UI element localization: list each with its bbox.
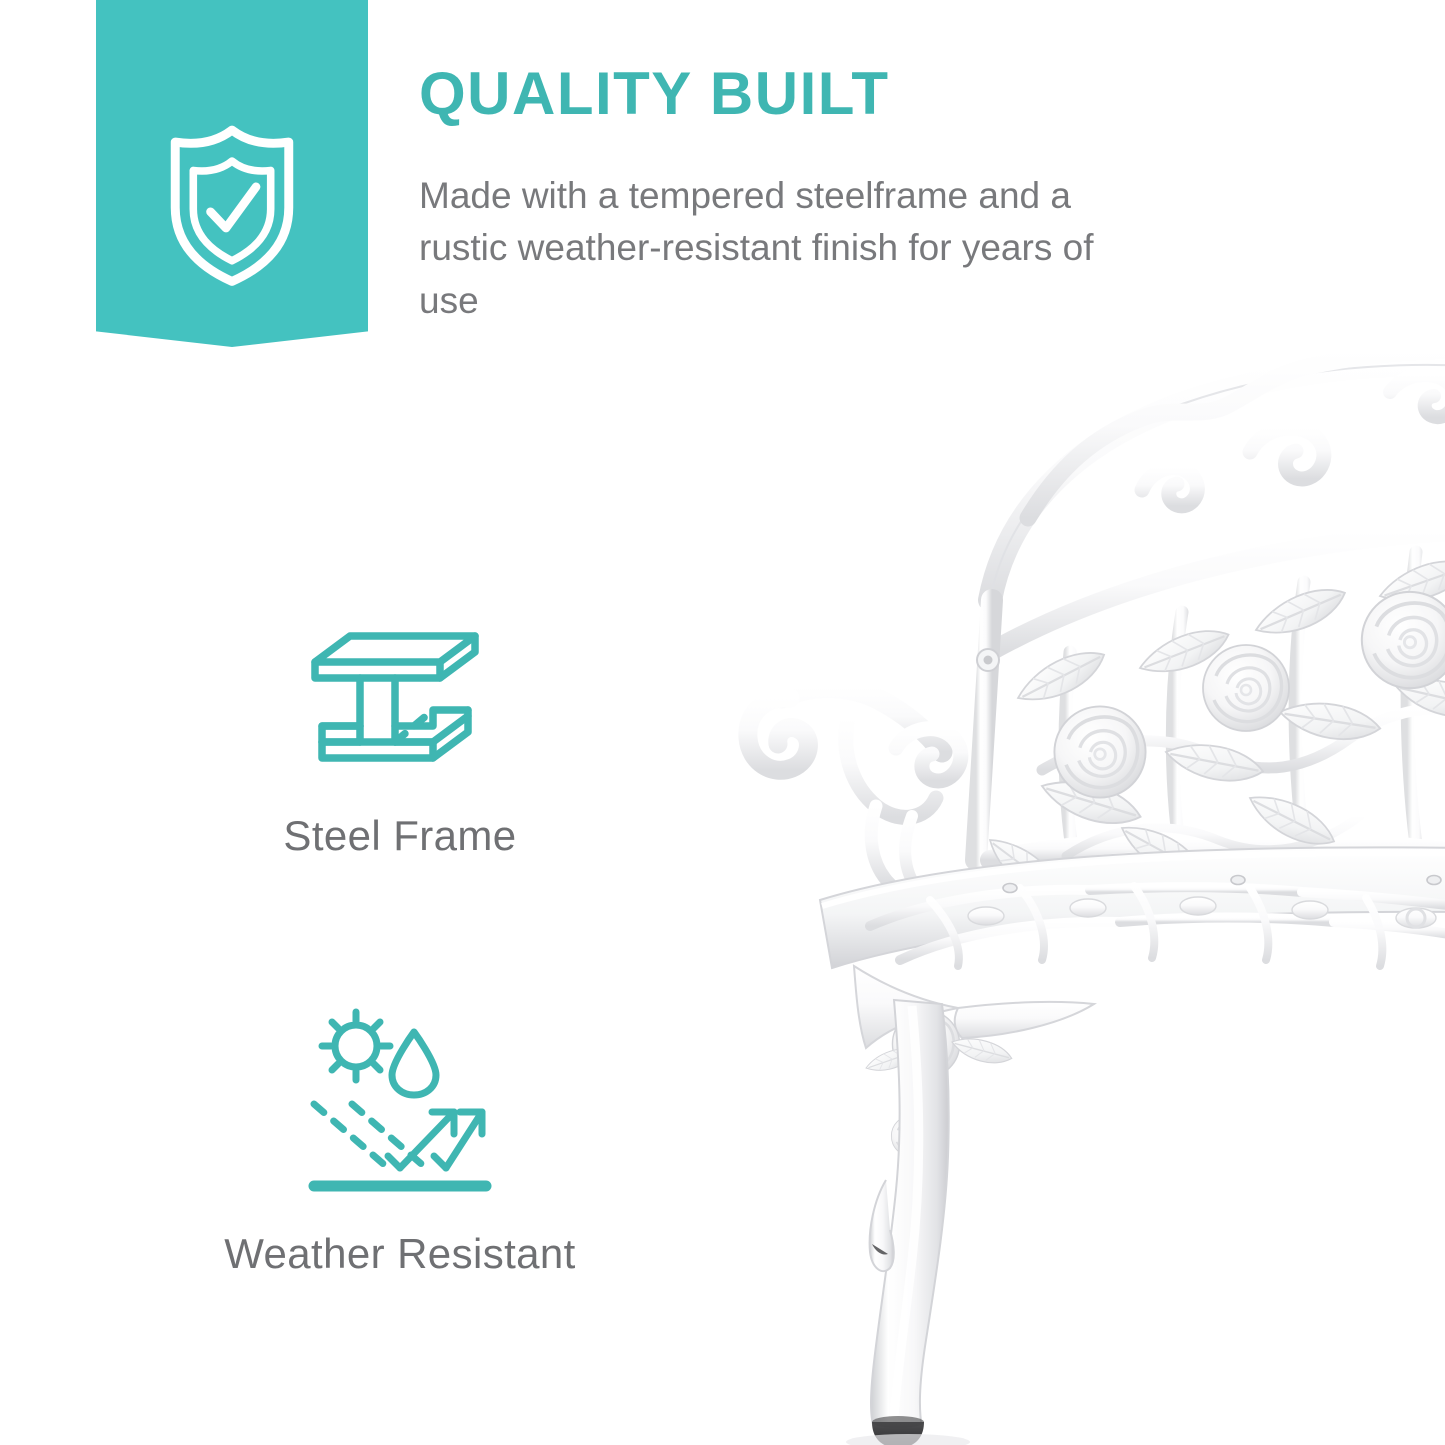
feature-label-steel-frame: Steel Frame — [283, 786, 516, 860]
shield-check-icon — [146, 118, 318, 290]
headline-block: QUALITY BUILT Made with a tempered steel… — [419, 62, 1179, 327]
product-image-garden-bench — [690, 300, 1445, 1445]
weather-resistant-icon — [296, 1008, 504, 1204]
steel-i-beam-icon — [300, 590, 500, 786]
page-title: QUALITY BUILT — [419, 62, 1179, 126]
feature-weather-resistant: Weather Resistant — [140, 1008, 660, 1278]
product-feature-card: QUALITY BUILT Made with a tempered steel… — [0, 0, 1445, 1445]
feature-label-weather-resistant: Weather Resistant — [224, 1204, 576, 1278]
quality-banner — [96, 0, 368, 347]
feature-steel-frame: Steel Frame — [140, 590, 660, 860]
page-description: Made with a tempered steelframe and a ru… — [419, 126, 1154, 328]
feature-list: Steel Frame — [140, 590, 660, 1278]
